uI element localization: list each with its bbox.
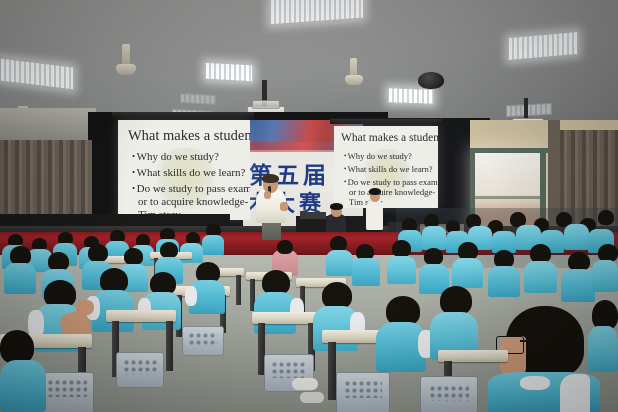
student-head [598, 210, 614, 225]
fluorescent-light-panel [506, 103, 552, 117]
student-torso [592, 260, 618, 292]
slide-bullet: Why do we study? [132, 151, 219, 163]
student-head [424, 248, 443, 265]
student-head [322, 282, 352, 309]
slide-continuation: or to acquire knowledge- [138, 196, 248, 208]
slide-bullet: What skills do we learn? [344, 164, 433, 174]
slide-bullet: Why do we study? [344, 151, 412, 161]
stage-equipment [300, 212, 326, 219]
chair-perforation [123, 359, 157, 375]
foreground-student-sleeve [560, 374, 590, 412]
stage-person-hair [369, 188, 381, 195]
eyeglasses-temple [520, 340, 538, 342]
student-head [440, 286, 472, 315]
ceiling-projector [252, 100, 280, 109]
student-chair [336, 372, 390, 412]
student-torso [588, 326, 618, 372]
student-sleeve [185, 286, 197, 306]
desk-leg [166, 321, 173, 371]
fluorescent-light-panel [388, 87, 434, 105]
chair-perforation [47, 379, 87, 397]
student-torso [488, 266, 520, 297]
dome-security-camera [418, 72, 444, 89]
slide-bullet: Do we study to pass exams [132, 183, 250, 195]
left-upper-wall [0, 108, 96, 144]
stage-person-torso [366, 200, 383, 230]
stage-person-hair [330, 203, 343, 210]
ceiling-fan-mount [345, 75, 363, 85]
foreground-student-collar [520, 376, 550, 390]
slide-continuation: or to acquire knowledge- [349, 187, 435, 197]
slide-title: What makes a student [341, 132, 438, 144]
student-torso [326, 250, 353, 276]
chair-perforation [271, 361, 307, 378]
student-head [330, 236, 347, 251]
student-torso [561, 269, 595, 302]
student-head [0, 330, 34, 364]
window-frame [470, 148, 548, 153]
student-head [124, 248, 143, 265]
ceiling-fan-mount [116, 64, 136, 75]
desk-leg [236, 275, 241, 305]
right-projection-screen: What makes a student Why do we study? Wh… [334, 126, 438, 208]
student-torso [564, 224, 589, 250]
student-head [392, 240, 411, 257]
student-shoe [292, 378, 318, 390]
fluorescent-light-panel [205, 62, 253, 83]
presenter-hand [280, 202, 288, 211]
chair-perforation [344, 380, 382, 398]
window-frame [474, 196, 542, 199]
projector-mount-pole [524, 98, 528, 120]
student-torso [452, 258, 483, 288]
desk-leg [328, 342, 336, 400]
slide-bullet: What skills do we learn? [132, 167, 245, 179]
slide-title: What makes a student [128, 128, 250, 145]
student-chair [40, 372, 94, 412]
student-torso [422, 226, 446, 250]
student-chair [116, 352, 164, 388]
classroom-photograph: 第五届 术大赛 分赛区 What makes a student Why do … [0, 0, 618, 412]
student-torso [352, 258, 380, 286]
student-torso [0, 360, 46, 412]
student-torso [387, 256, 416, 284]
student-torso [4, 263, 36, 294]
presenter-hair [262, 174, 279, 183]
fluorescent-light-panel [180, 93, 216, 105]
student-chair [420, 376, 478, 412]
screen-housing [330, 119, 442, 124]
banner-line-1: 第五届 [249, 156, 330, 190]
chair-perforation [429, 385, 469, 401]
chair-perforation [188, 332, 218, 346]
student-head [160, 242, 178, 258]
slide-bullet: Do we study to pass exams [344, 177, 438, 187]
student-chair [182, 326, 224, 356]
student-torso [202, 235, 224, 255]
left-projection-screen: What makes a student Why do we study? Wh… [118, 120, 250, 220]
screen-housing [112, 112, 254, 118]
student-head [88, 244, 108, 262]
student-torso [524, 261, 557, 293]
student-shoe [300, 392, 324, 403]
presenter-hand [264, 191, 271, 199]
audience-person-head [277, 240, 293, 254]
